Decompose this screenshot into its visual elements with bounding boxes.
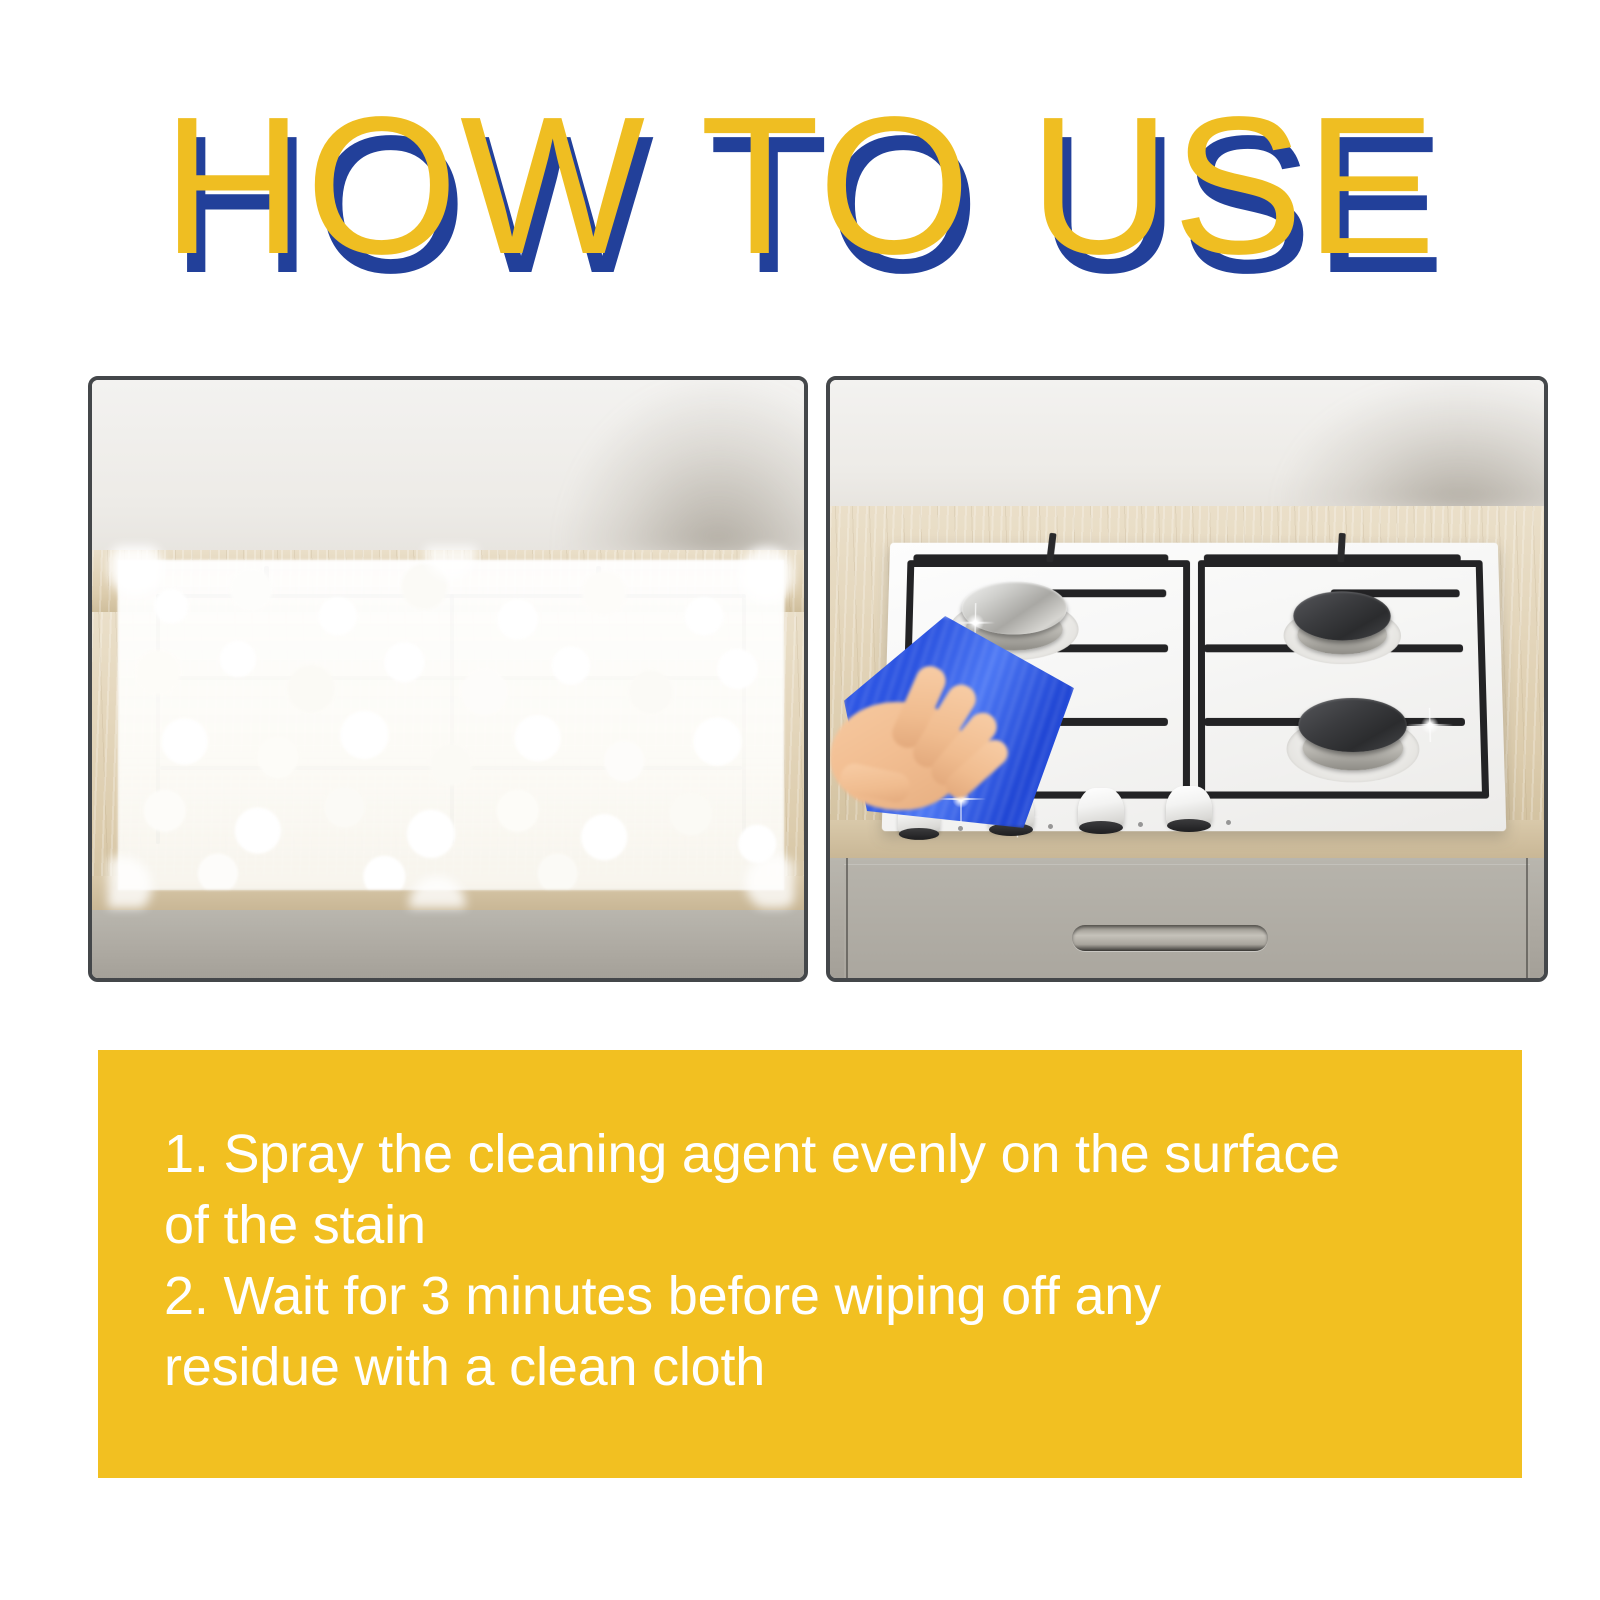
burner-back-right-cap [1293,591,1391,640]
cabinet-drawer [844,864,1530,982]
infographic-page: HOW TO USE HOW TO USE [0,0,1600,1600]
step-2-scene [830,380,1544,978]
instruction-line-1: 1. Spray the cleaning agent evenly on th… [164,1120,1478,1189]
hand [830,662,1040,822]
page-title: HOW TO USE HOW TO USE [0,86,1600,286]
sparkle-right-edge [1406,708,1453,742]
knob-indicator-3 [1138,822,1143,827]
base-cabinet-right [830,858,1544,982]
step-1-scene [92,380,804,978]
base-cabinet [92,910,804,982]
instructions-panel: 1. Spray the cleaning agent evenly on th… [98,1050,1522,1478]
cabinet-seam-left [846,858,848,982]
page-title-text: HOW TO USE [0,86,1600,286]
burner-back-right [1283,591,1401,664]
cooktop-knob-4[interactable] [1166,786,1212,826]
foam-edge-bubbles [108,546,794,908]
instruction-line-3: 2. Wait for 3 minutes before wiping off … [164,1262,1478,1331]
grate-left-bar-1 [913,554,1168,562]
step-2-photo-panel [826,376,1548,982]
instruction-line-4: residue with a clean cloth [164,1333,1478,1402]
grate-right-bar-1 [1204,554,1461,562]
burner-front-right [1286,698,1420,782]
knob-indicator-4 [1226,820,1231,825]
drawer-handle[interactable] [1072,925,1268,951]
foam-covered-hob [118,560,784,890]
burner-front-right-cap [1298,698,1407,752]
step-1-photo-panel [88,376,808,982]
wall-shadow [562,380,808,556]
cooktop-knob-3[interactable] [1078,788,1124,828]
cabinet-seam-right [1526,858,1528,982]
knob-indicator-1 [958,826,963,831]
knob-indicator-2 [1048,824,1053,829]
wall-shadow-right [1280,380,1548,512]
instruction-line-2: of the stain [164,1191,1478,1260]
